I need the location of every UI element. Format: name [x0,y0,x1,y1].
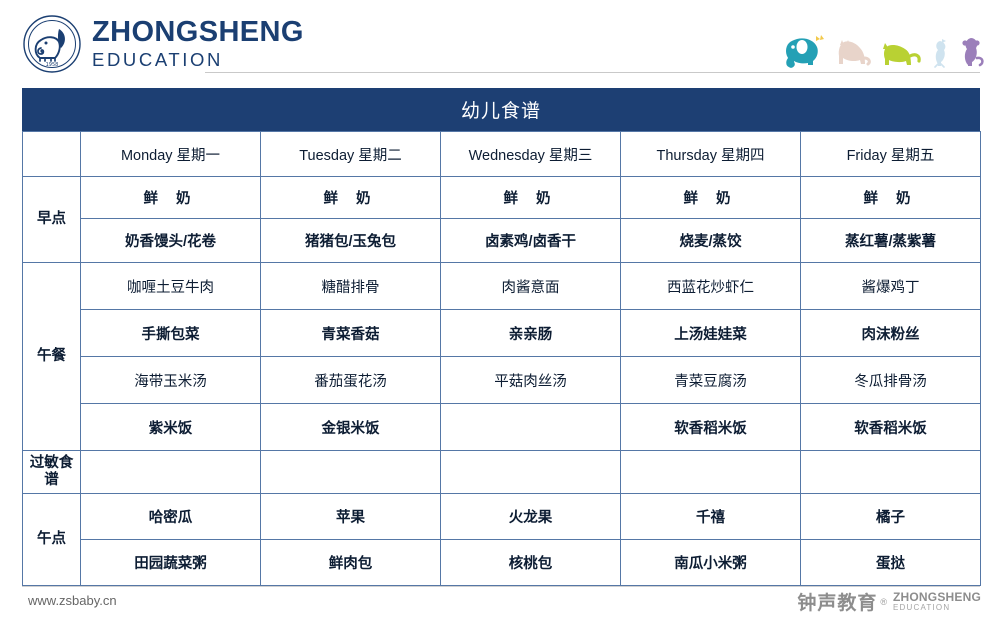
brand-subtitle: EDUCATION [92,51,304,70]
cell-allergy-thu [621,451,801,494]
cell-breakfast-milk-wed: 鲜 奶 [441,177,621,219]
animal-decorations [783,18,985,68]
cell-breakfast-milk-fri: 鲜 奶 [801,177,981,219]
cell-allergy-tue [261,451,441,494]
footer-brand-en-secondary: EDUCATION [893,604,981,612]
menu-table: Monday 星期一 Tuesday 星期二 Wednesday 星期三 Thu… [22,131,981,586]
cell-lunch-rice-mon: 紫米饭 [81,404,261,451]
cell-lunch-veg-tue: 青菜香菇 [261,310,441,357]
header-divider [205,72,980,73]
page-title: 幼儿食谱 [22,88,980,131]
table-header-row: Monday 星期一 Tuesday 星期二 Wednesday 星期三 Thu… [23,132,981,177]
cell-allergy-wed [441,451,621,494]
column-header-thursday: Thursday 星期四 [621,132,801,177]
cell-lunch-main-tue: 糖醋排骨 [261,263,441,310]
cell-lunch-rice-wed [441,404,621,451]
cell-breakfast-food-mon: 奶香馒头/花卷 [81,219,261,263]
cell-lunch-veg-wed: 亲亲肠 [441,310,621,357]
table-row: 奶香馒头/花卷 猪猪包/玉兔包 卤素鸡/卤香干 烧麦/蒸饺 蒸红薯/蒸紫薯 [23,219,981,263]
cell-lunch-veg-thu: 上汤娃娃菜 [621,310,801,357]
table-row: 早点 鲜 奶 鲜 奶 鲜 奶 鲜 奶 鲜 奶 [23,177,981,219]
cell-snack-food-thu: 南瓜小米粥 [621,540,801,586]
page-footer: www.zsbaby.cn 钟声教育 ® ZHONGSHENG EDUCATIO… [0,584,999,620]
cell-snack-fruit-wed: 火龙果 [441,494,621,540]
row-label-allergy-menu: 过敏食谱 [23,451,81,494]
row-label-breakfast: 早点 [23,177,81,263]
table-row: 午点 哈密瓜 苹果 火龙果 千禧 橘子 [23,494,981,540]
bird-icon [930,36,952,68]
column-header-tuesday: Tuesday 星期二 [261,132,441,177]
svg-text:1958: 1958 [46,62,59,68]
table-row: 手撕包菜 青菜香菇 亲亲肠 上汤娃娃菜 肉沫粉丝 [23,310,981,357]
cell-allergy-fri [801,451,981,494]
cell-snack-fruit-tue: 苹果 [261,494,441,540]
footer-brand-en-primary: ZHONGSHENG [893,591,981,604]
footer-brand-cn: 钟声教育 [797,588,877,615]
cell-lunch-main-wed: 肉酱意面 [441,263,621,310]
registered-mark-icon: ® [880,597,887,607]
cell-snack-food-fri: 蛋挞 [801,540,981,586]
cell-snack-food-mon: 田园蔬菜粥 [81,540,261,586]
elephant-icon [783,34,827,68]
cell-breakfast-milk-thu: 鲜 奶 [621,177,801,219]
menu-page: 1958 ZHONGSHENG EDUCATION [0,0,999,620]
cell-snack-food-tue: 鲜肉包 [261,540,441,586]
table-row: 午餐 咖喱土豆牛肉 糖醋排骨 肉酱意面 西蓝花炒虾仁 酱爆鸡丁 [23,263,981,310]
table-row: 紫米饭 金银米饭 软香稻米饭 软香稻米饭 [23,404,981,451]
header-corner-cell [23,132,81,177]
footer-divider [22,586,980,587]
cell-lunch-veg-mon: 手撕包菜 [81,310,261,357]
cell-lunch-soup-fri: 冬瓜排骨汤 [801,357,981,404]
cell-snack-fruit-thu: 千禧 [621,494,801,540]
monkey-icon [959,34,985,68]
cell-lunch-rice-tue: 金银米饭 [261,404,441,451]
cell-lunch-soup-mon: 海带玉米汤 [81,357,261,404]
cell-breakfast-milk-mon: 鲜 奶 [81,177,261,219]
column-header-friday: Friday 星期五 [801,132,981,177]
brand-name: ZHONGSHENG [92,18,304,47]
cell-lunch-main-thu: 西蓝花炒虾仁 [621,263,801,310]
zhongsheng-emblem-icon: 1958 [22,14,82,74]
table-row: 过敏食谱 [23,451,981,494]
footer-brand-logo: 钟声教育 ® ZHONGSHENG EDUCATION [797,588,981,615]
table-row: 海带玉米汤 番茄蛋花汤 平菇肉丝汤 青菜豆腐汤 冬瓜排骨汤 [23,357,981,404]
row-label-lunch: 午餐 [23,263,81,451]
footer-brand-en: ZHONGSHENG EDUCATION [893,591,981,612]
cell-lunch-soup-wed: 平菇肉丝汤 [441,357,621,404]
cell-lunch-rice-fri: 软香稻米饭 [801,404,981,451]
cell-snack-fruit-fri: 橘子 [801,494,981,540]
column-header-monday: Monday 星期一 [81,132,261,177]
brand-logo: 1958 ZHONGSHENG EDUCATION [22,14,304,74]
cell-lunch-veg-fri: 肉沫粉丝 [801,310,981,357]
cat-icon [834,36,874,68]
cell-allergy-mon [81,451,261,494]
column-header-wednesday: Wednesday 星期三 [441,132,621,177]
cell-breakfast-food-thu: 烧麦/蒸饺 [621,219,801,263]
footer-website-url[interactable]: www.zsbaby.cn [28,593,117,608]
cell-breakfast-food-tue: 猪猪包/玉兔包 [261,219,441,263]
cell-lunch-soup-thu: 青菜豆腐汤 [621,357,801,404]
cell-lunch-main-mon: 咖喱土豆牛肉 [81,263,261,310]
dog-icon [881,38,923,68]
row-label-afternoon-snack: 午点 [23,494,81,586]
cell-snack-fruit-mon: 哈密瓜 [81,494,261,540]
cell-breakfast-food-wed: 卤素鸡/卤香干 [441,219,621,263]
cell-breakfast-milk-tue: 鲜 奶 [261,177,441,219]
page-header: 1958 ZHONGSHENG EDUCATION [0,0,999,86]
cell-lunch-rice-thu: 软香稻米饭 [621,404,801,451]
cell-snack-food-wed: 核桃包 [441,540,621,586]
brand-wordmark: ZHONGSHENG EDUCATION [92,18,304,70]
cell-lunch-main-fri: 酱爆鸡丁 [801,263,981,310]
cell-lunch-soup-tue: 番茄蛋花汤 [261,357,441,404]
cell-breakfast-food-fri: 蒸红薯/蒸紫薯 [801,219,981,263]
table-row: 田园蔬菜粥 鲜肉包 核桃包 南瓜小米粥 蛋挞 [23,540,981,586]
